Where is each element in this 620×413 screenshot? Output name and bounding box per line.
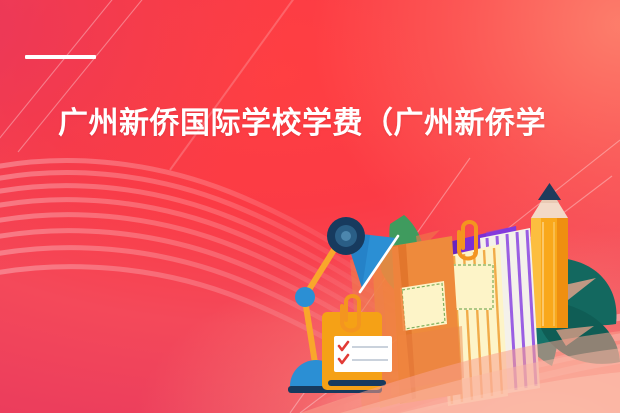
- page-title: 广州新侨国际学校学费（广州新侨学: [58, 104, 603, 144]
- foreground-wave-sweep: [0, 0, 620, 413]
- accent-rule: [25, 55, 96, 59]
- banner: 广州新侨国际学校学费（广州新侨学: [0, 0, 620, 413]
